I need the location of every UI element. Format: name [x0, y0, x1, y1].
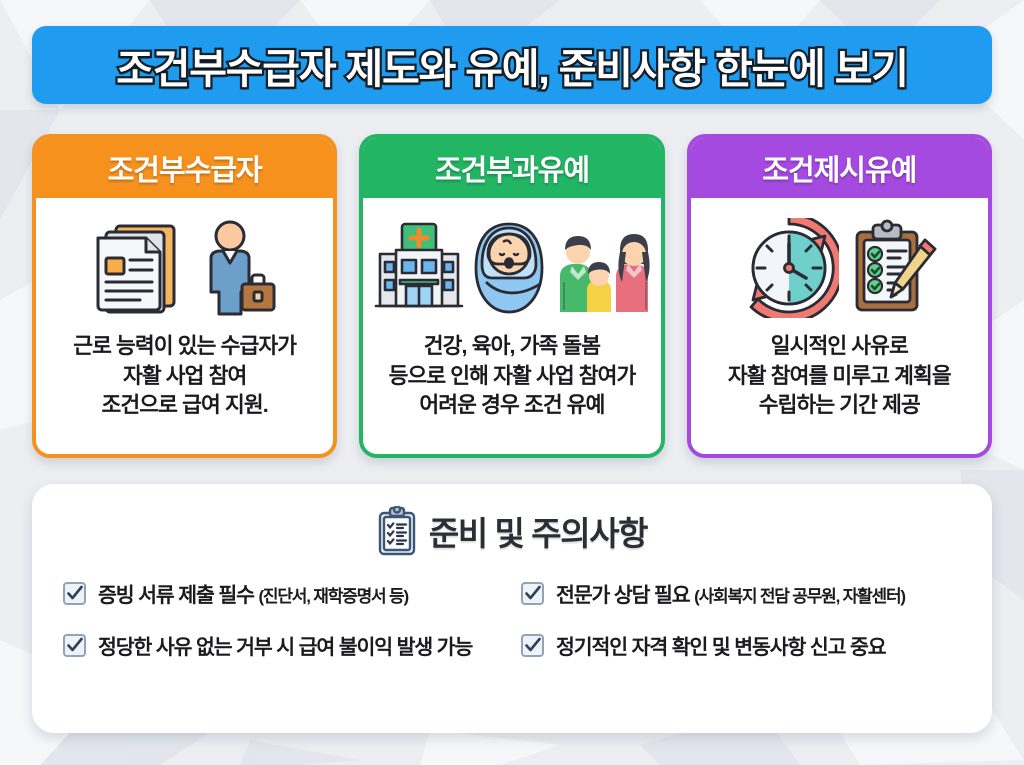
list-item[interactable]: 정당한 사유 없는 거부 시 급여 불이익 발생 가능: [62, 630, 504, 660]
checklist: 증빙 서류 제출 필수 (진단서, 재학증명서 등) 전문가 상담 필요 (사회…: [62, 578, 962, 660]
list-item-label: 전문가 상담 필요 (사회복지 전담 공무원, 자활센터): [556, 578, 905, 608]
card-icon-row: [374, 214, 650, 322]
card-body: 근로 능력이 있는 수급자가 자활 사업 참여 조건으로 급여 지원.: [36, 198, 333, 454]
card-body: 일시적인 사유로 자활 참여를 미루고 계획을 수립하는 기간 제공: [691, 198, 988, 454]
documents-icon: [92, 218, 184, 318]
checkbox-checked-icon: [520, 581, 545, 606]
list-item-label: 증빙 서류 제출 필수 (진단서, 재학증명서 등): [98, 578, 408, 608]
family-icon: [554, 220, 650, 316]
clipboard-pencil-icon: [847, 218, 939, 318]
checkbox-checked-icon: [62, 581, 87, 606]
card-header: 조건부과유예: [363, 138, 660, 198]
businessman-icon: [192, 218, 278, 318]
concept-cards-row: 조건부수급자: [32, 134, 992, 458]
list-item-label: 정기적인 자격 확인 및 변동사항 신고 중요: [556, 630, 886, 660]
page-title: 조건부수급자 제도와 유예, 준비사항 한눈에 보기: [116, 35, 908, 95]
card-conditional-recipient[interactable]: 조건부수급자: [32, 134, 337, 458]
list-item-label: 정당한 사유 없는 거부 시 급여 불이익 발생 가능: [98, 630, 472, 660]
list-item-note: (사회복지 전담 공무원, 자활센터): [694, 587, 905, 606]
card-description: 건강, 육아, 가족 돌봄 등으로 인해 자활 사업 참여가 어려운 경우 조건…: [389, 332, 636, 421]
card-title: 조건부과유예: [435, 147, 589, 189]
checkbox-checked-icon: [520, 633, 545, 658]
card-title: 조건부수급자: [108, 147, 262, 189]
clock-arrow-icon: [739, 218, 839, 318]
list-item[interactable]: 증빙 서류 제출 필수 (진단서, 재학증명서 등): [62, 578, 504, 608]
list-item[interactable]: 전문가 상담 필요 (사회복지 전담 공무원, 자활센터): [520, 578, 962, 608]
card-header: 조건부수급자: [36, 138, 333, 198]
hospital-icon: [374, 220, 464, 316]
card-icon-row: [92, 214, 278, 322]
infographic-page: 조건부수급자 제도와 유예, 준비사항 한눈에 보기 조건부수급자: [0, 0, 1024, 765]
card-condition-exemption[interactable]: 조건부과유예: [359, 134, 664, 458]
preparations-heading: 준비 및 주의사항: [377, 506, 647, 556]
list-item-note: (진단서, 재학증명서 등): [258, 587, 407, 606]
clipboard-checklist-icon: [377, 506, 417, 556]
title-banner: 조건부수급자 제도와 유예, 준비사항 한눈에 보기: [32, 26, 992, 104]
card-body: 건강, 육아, 가족 돌봄 등으로 인해 자활 사업 참여가 어려운 경우 조건…: [363, 198, 660, 454]
list-item[interactable]: 정기적인 자격 확인 및 변동사항 신고 중요: [520, 630, 962, 660]
preparations-heading-text: 준비 및 주의사항: [429, 507, 647, 555]
swaddled-baby-icon: [472, 220, 546, 316]
checkbox-checked-icon: [62, 633, 87, 658]
preparations-panel: 준비 및 주의사항 증빙 서류 제출 필수 (진단서, 재학증명서 등) 전문가…: [32, 484, 992, 733]
card-description: 근로 능력이 있는 수급자가 자활 사업 참여 조건으로 급여 지원.: [73, 332, 296, 421]
card-condition-deferral[interactable]: 조건제시유예: [687, 134, 992, 458]
card-description: 일시적인 사유로 자활 참여를 미루고 계획을 수립하는 기간 제공: [728, 332, 951, 421]
card-icon-row: [739, 214, 939, 322]
card-title: 조건제시유예: [762, 147, 916, 189]
card-header: 조건제시유예: [691, 138, 988, 198]
